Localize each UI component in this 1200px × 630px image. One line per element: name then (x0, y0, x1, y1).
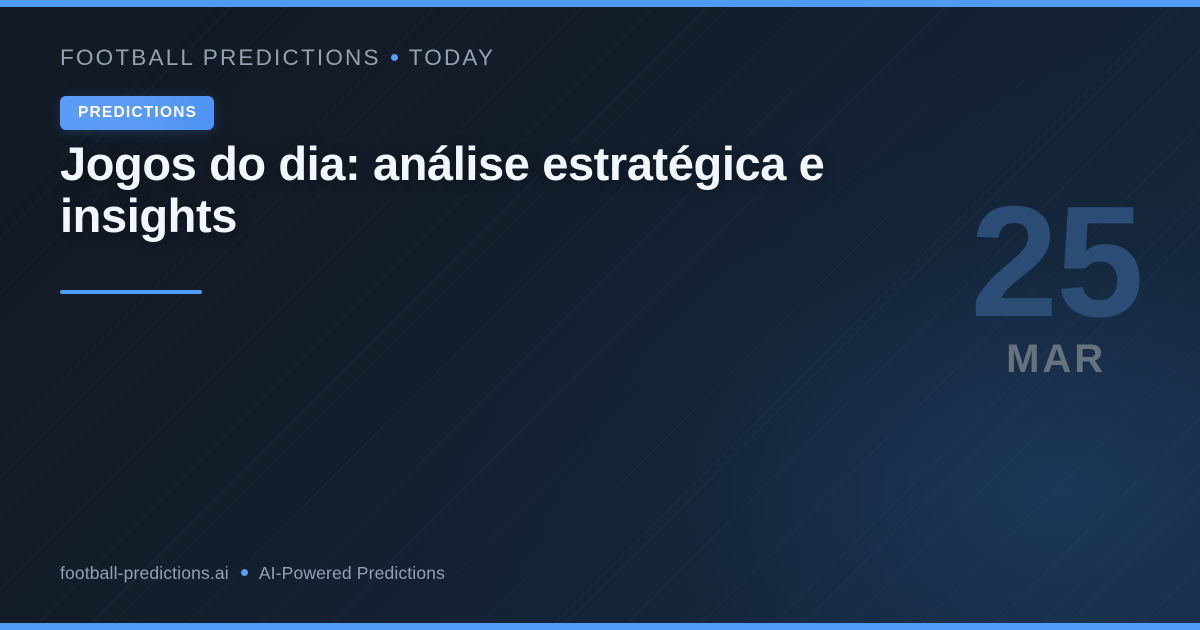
bottom-accent-bar (0, 623, 1200, 630)
card-content: FOOTBALL PREDICTIONSTODAY PREDICTIONS Jo… (60, 0, 1140, 630)
footer-site-label[interactable]: football-predictions.ai (60, 563, 229, 583)
category-badge[interactable]: PREDICTIONS (60, 96, 214, 130)
dot-separator-icon (241, 569, 248, 576)
eyebrow-primary-label: FOOTBALL PREDICTIONS (60, 45, 381, 70)
eyebrow: FOOTBALL PREDICTIONSTODAY (60, 45, 495, 71)
dot-separator-icon (391, 54, 398, 61)
footer: football-predictions.aiAI-Powered Predic… (60, 563, 445, 584)
page-title: Jogos do dia: análise estratégica e insi… (60, 138, 960, 241)
eyebrow-secondary-label: TODAY (409, 45, 495, 70)
social-share-card: 25 MAR FOOTBALL PREDICTIONSTODAY PREDICT… (0, 0, 1200, 630)
accent-underline (60, 290, 202, 294)
top-accent-bar (0, 0, 1200, 7)
footer-tagline-label: AI-Powered Predictions (259, 563, 445, 583)
